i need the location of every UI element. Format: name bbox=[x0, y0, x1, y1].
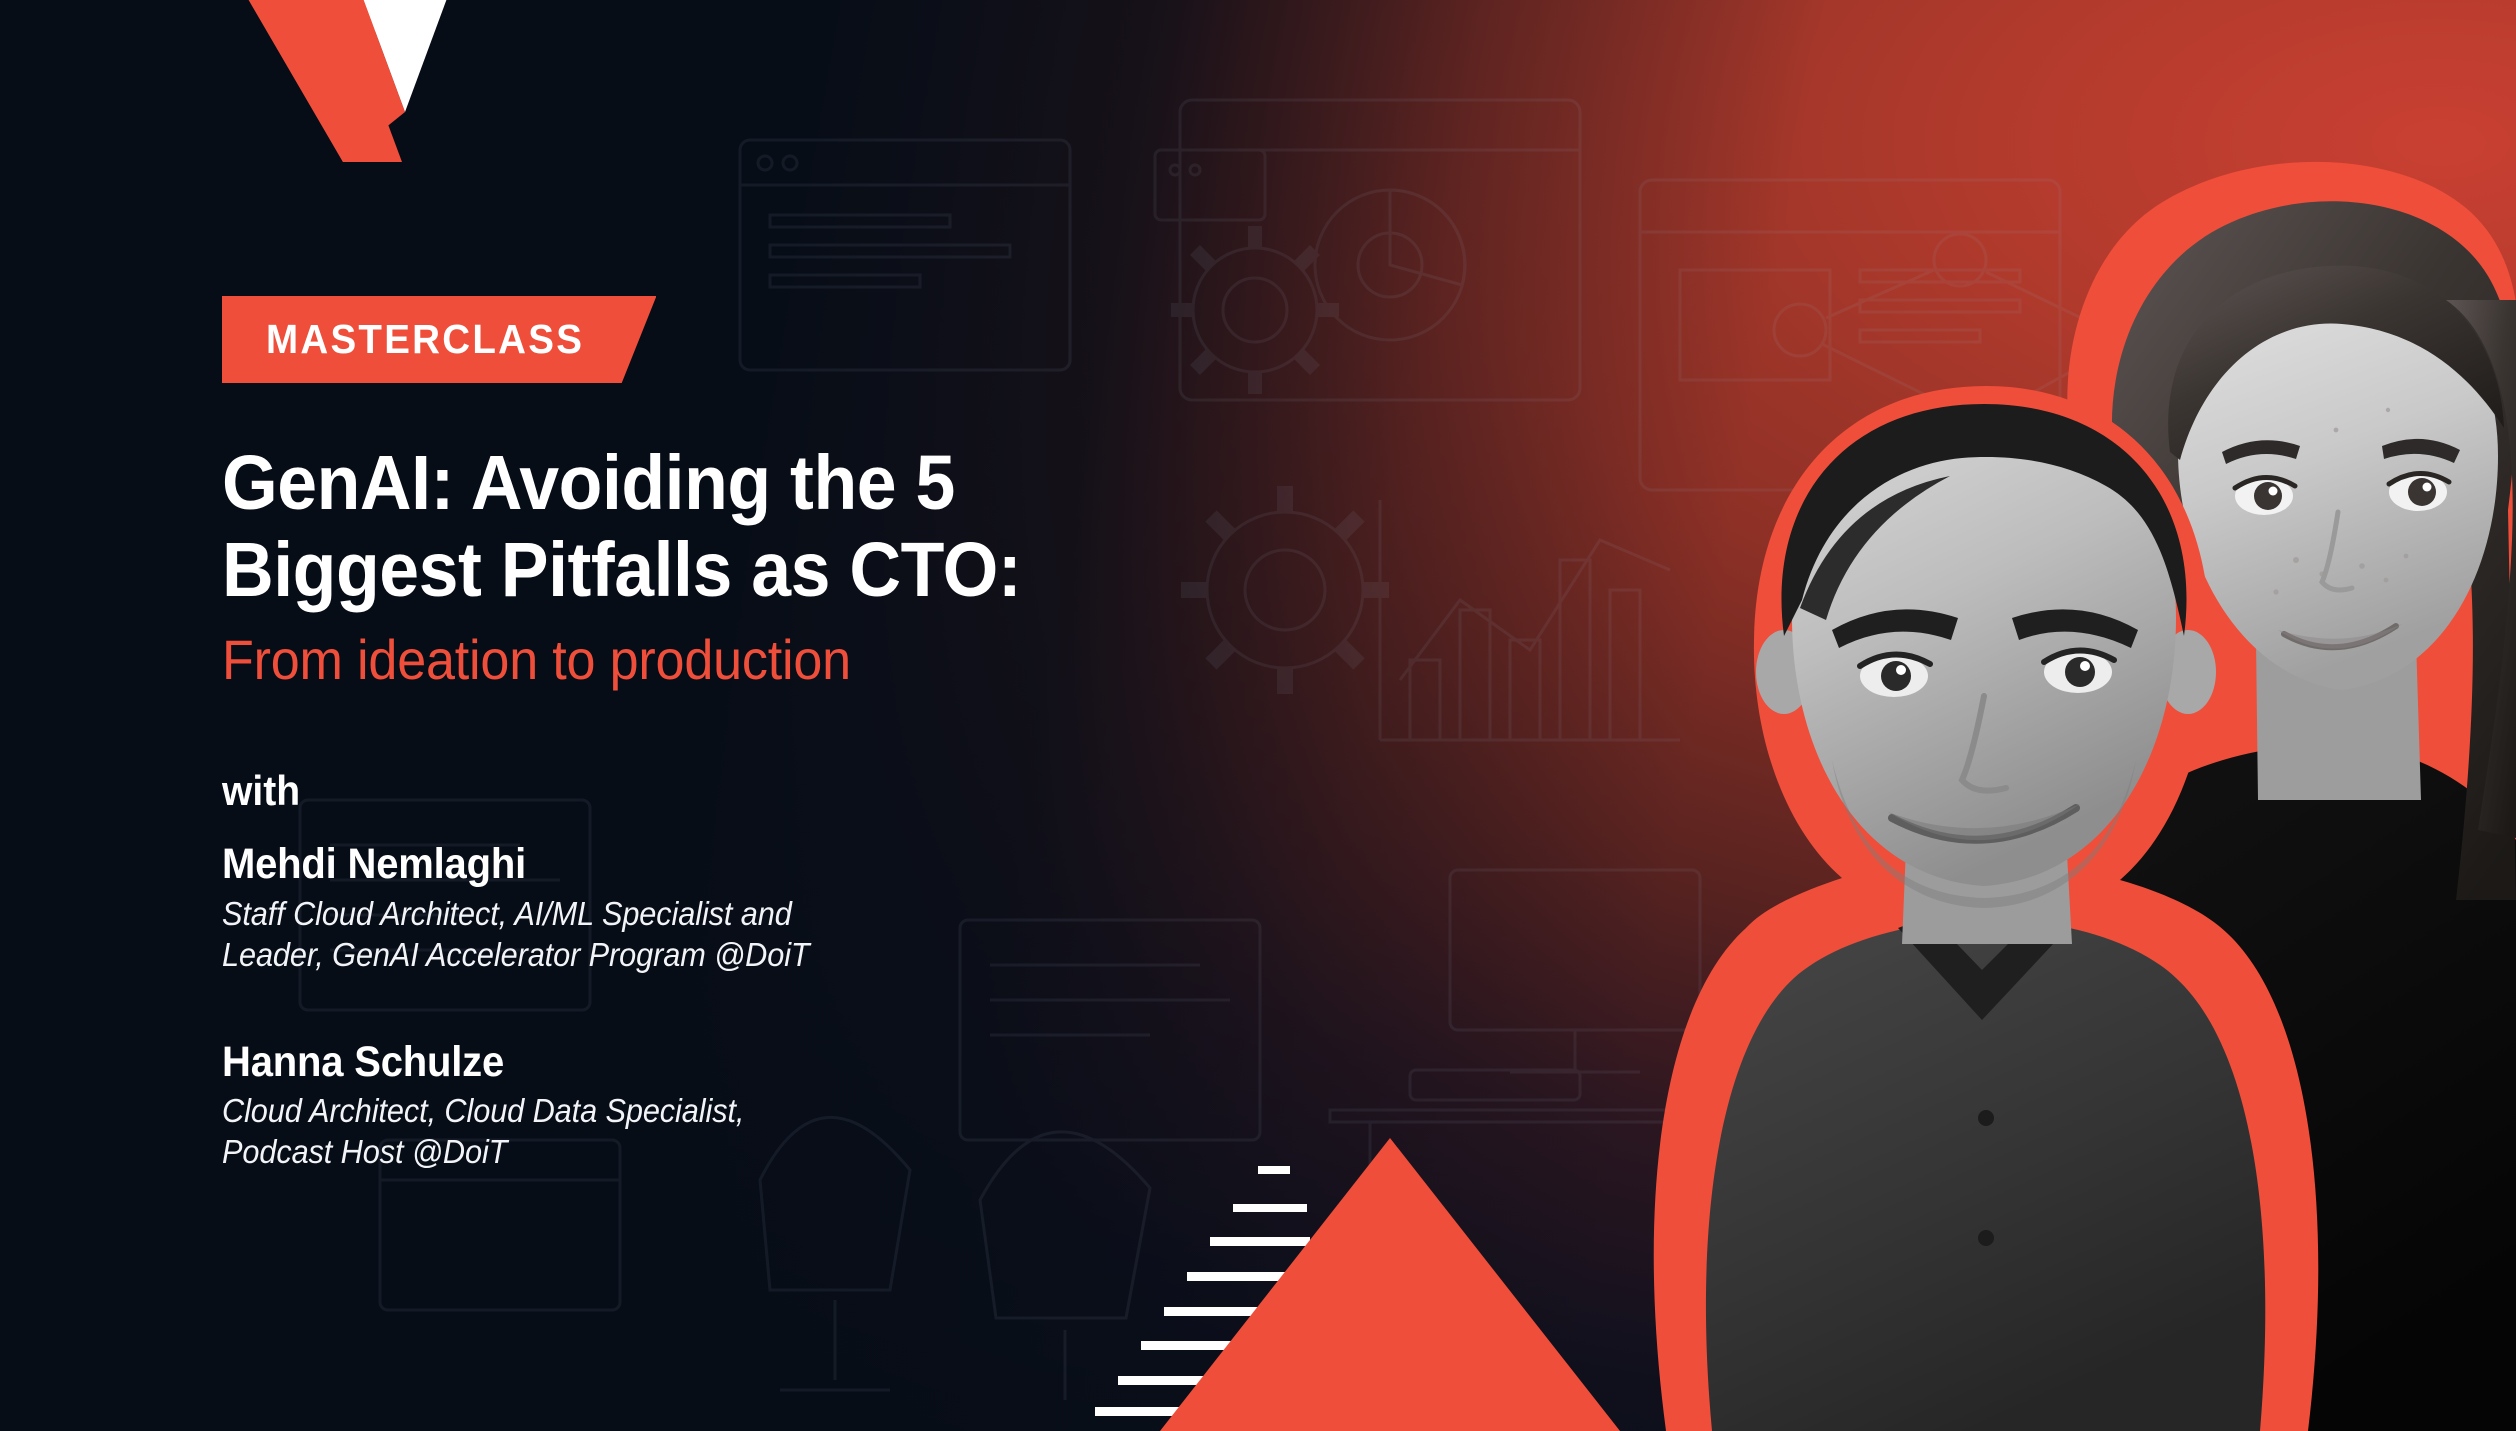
speaker-name: Mehdi Nemlaghi bbox=[222, 840, 1264, 888]
speaker-name: Hanna Schulze bbox=[222, 1038, 1264, 1086]
speaker-hanna-schulze: Hanna Schulze Cloud Architect, Cloud Dat… bbox=[222, 1038, 1264, 1173]
speaker-role: Cloud Architect, Cloud Data Specialist, … bbox=[222, 1090, 1264, 1173]
masterclass-badge-label: MASTERCLASS bbox=[266, 319, 584, 360]
page-title: GenAI: Avoiding the 5 Biggest Pitfalls a… bbox=[222, 440, 1264, 614]
content-column: GenAI: Avoiding the 5 Biggest Pitfalls a… bbox=[222, 440, 1342, 1173]
doit-chevron-logo-icon bbox=[180, 0, 600, 242]
masterclass-promo-banner: MASTERCLASS GenAI: Avoiding the 5 Bigges… bbox=[0, 0, 2516, 1431]
speaker-mehdi-nemlaghi: Mehdi Nemlaghi Staff Cloud Architect, AI… bbox=[222, 840, 1264, 975]
with-label: with bbox=[222, 770, 1264, 812]
speaker-role: Staff Cloud Architect, AI/ML Specialist … bbox=[222, 893, 1264, 976]
page-subtitle: From ideation to production bbox=[222, 628, 1264, 692]
masterclass-badge: MASTERCLASS bbox=[222, 296, 656, 383]
